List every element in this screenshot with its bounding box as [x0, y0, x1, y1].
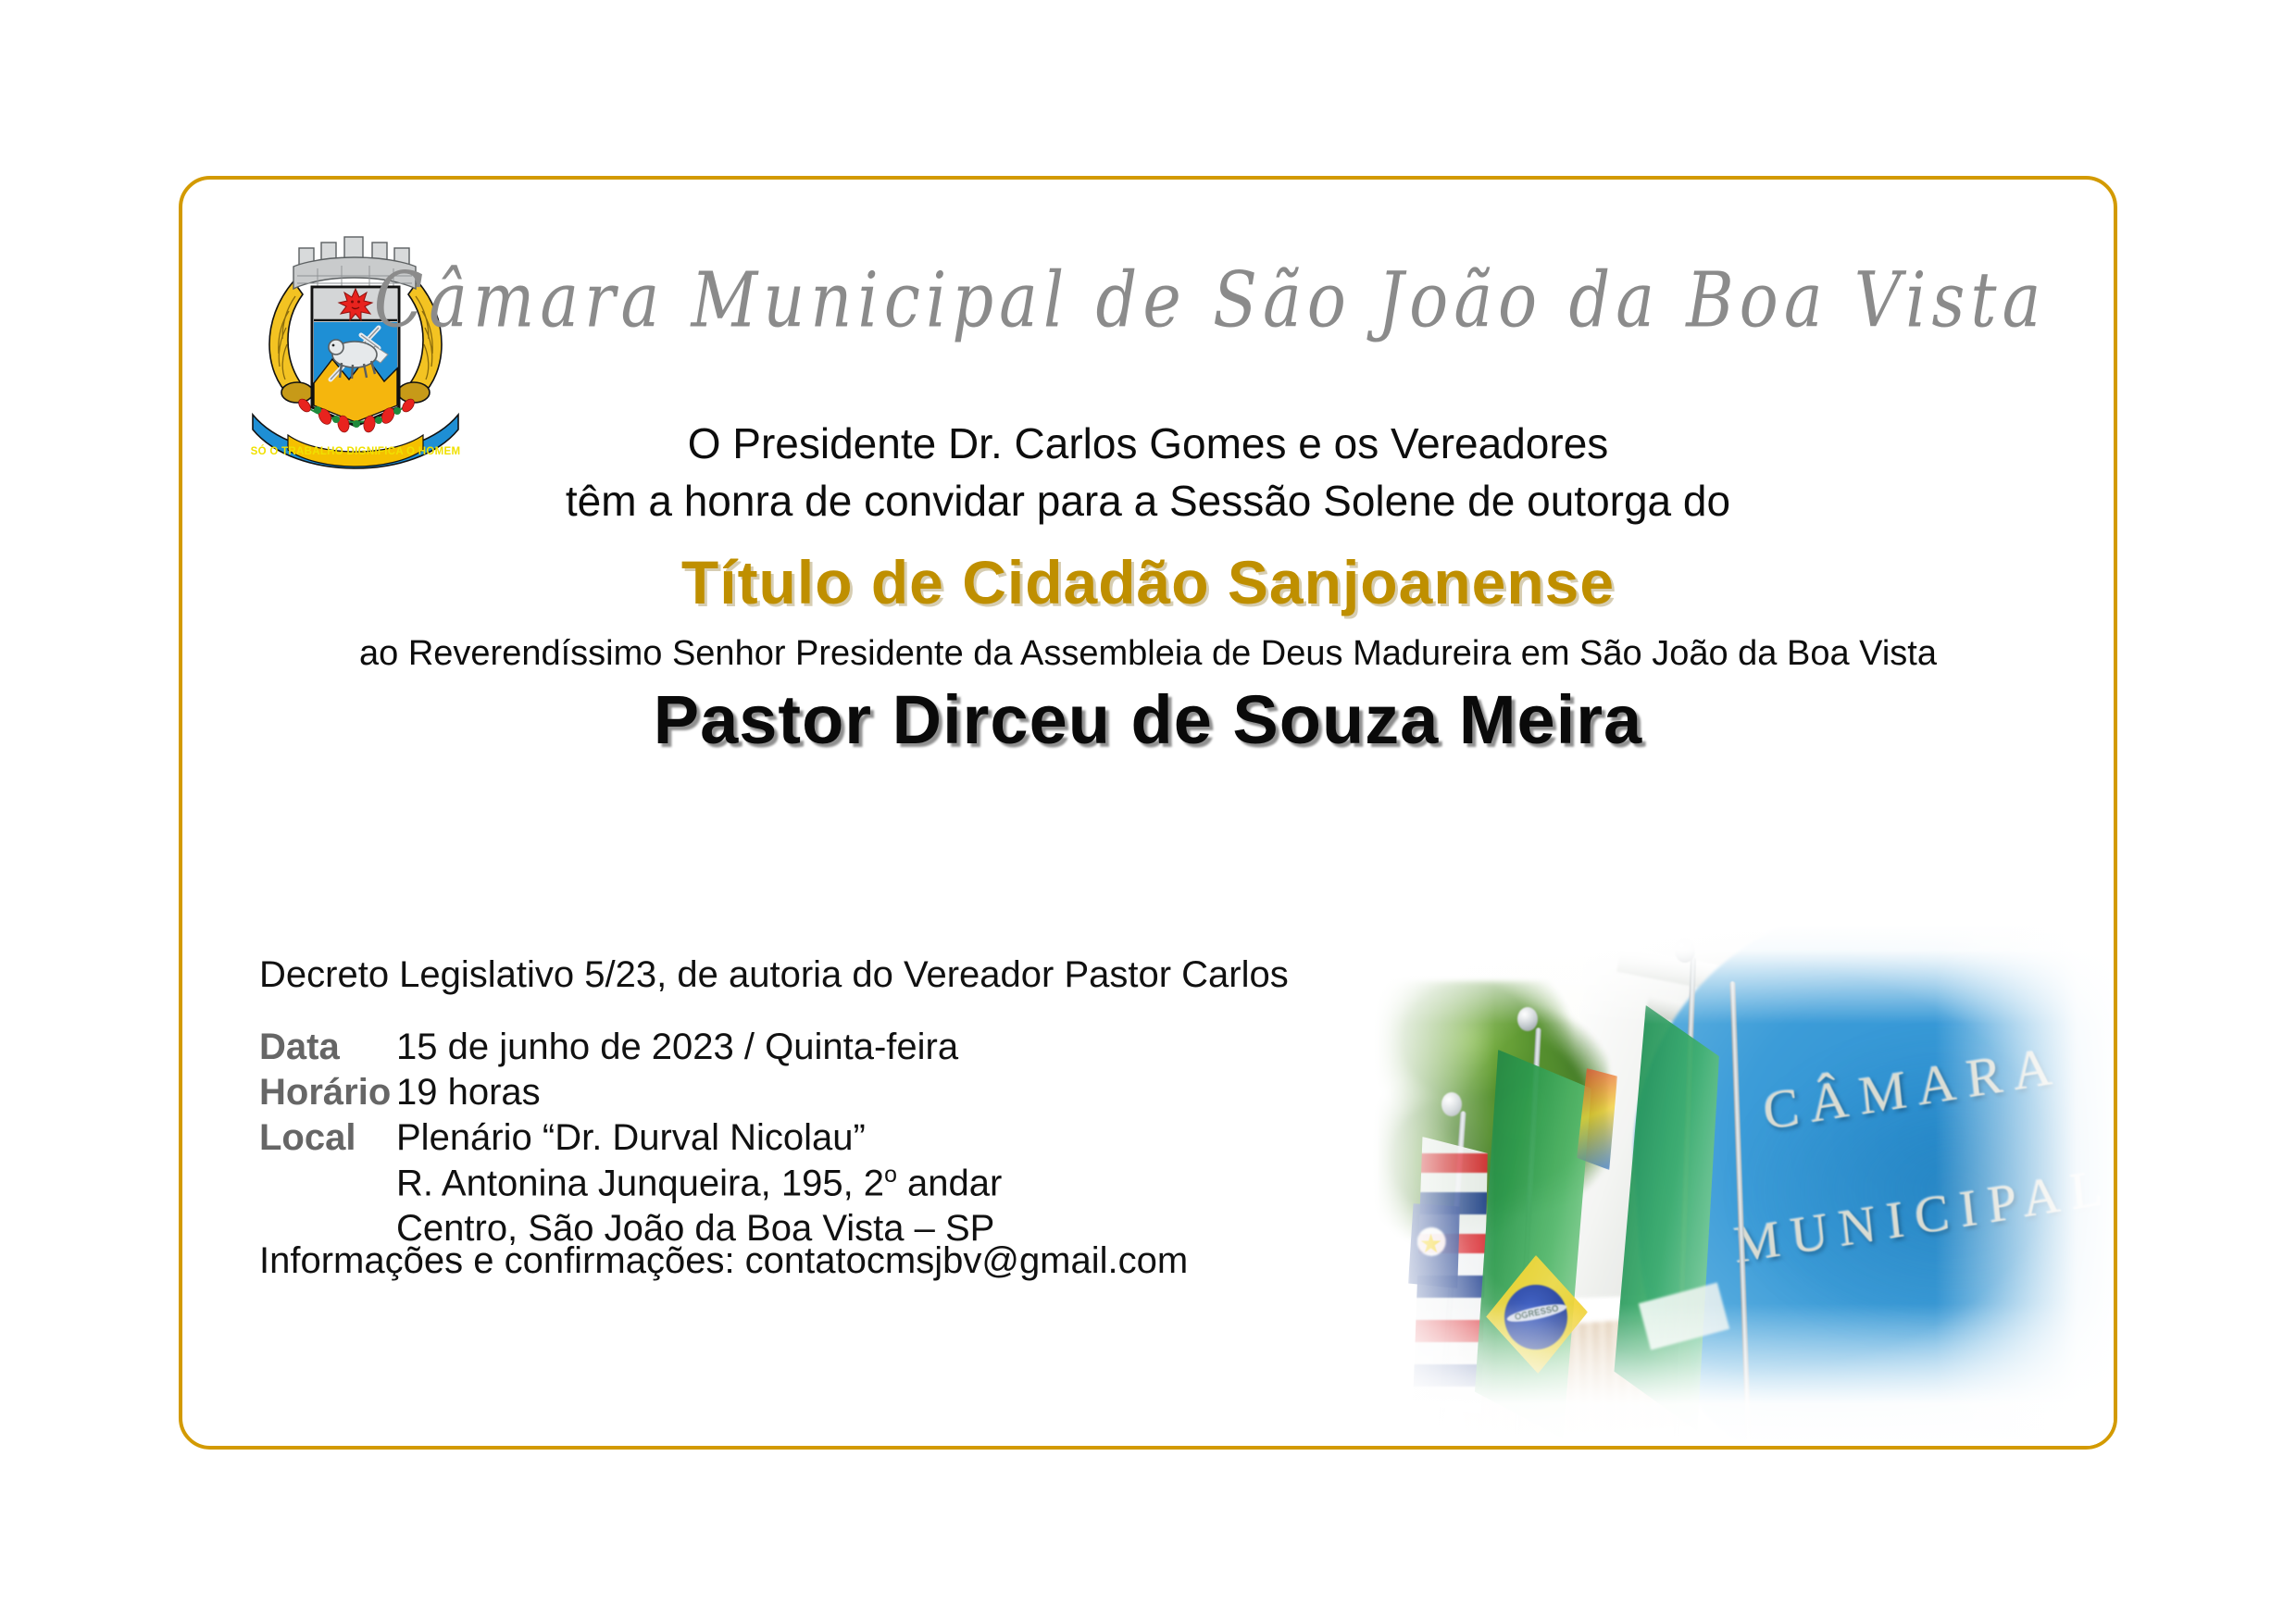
flagpole-knob-3 [1675, 939, 1695, 963]
bandeira-brasil [1462, 1050, 1591, 1438]
honoree-name: Pastor Dirceu de Souza Meira [182, 680, 2114, 759]
camara-municipal-building-photo: CÂMARA MUNICIPAL ★ OGRESSO [1340, 926, 2117, 1450]
flagpole-knob-2 [1517, 1007, 1538, 1031]
event-details-table: Data 15 de junho de 2023 / Quinta-feira … [259, 1027, 1002, 1253]
photo-feather-edges [1340, 926, 2117, 1450]
flagpole-3 [1674, 957, 1696, 1438]
bandeira-sao-paulo-star: ★ [1419, 1231, 1442, 1257]
photo-building-eave [1616, 946, 1794, 1005]
flagpole-1 [1437, 1111, 1466, 1444]
photo-scene: CÂMARA MUNICIPAL ★ OGRESSO [1340, 926, 2117, 1450]
bandeira-verde-branca [1597, 1005, 1719, 1431]
bandeira-sao-paulo-canton [1408, 1203, 1460, 1288]
flagpole-4 [1729, 981, 1751, 1444]
wall-letters-camara: CÂMARA [1761, 1034, 2066, 1143]
detail-label-empty-1 [259, 1163, 396, 1208]
photo-wall-shading [1738, 1037, 2117, 1342]
photo-building-facade [1555, 926, 1766, 1299]
bandeira-brasil-losango [1484, 1255, 1588, 1374]
photo-roof-tiles [1456, 1315, 1695, 1442]
detail-value-address: R. Antonina Junqueira, 195, 2o andar [396, 1163, 1002, 1208]
organization-title: Câmara Municipal de São João da Boa Vist… [340, 255, 2080, 345]
detail-row-data: Data 15 de junho de 2023 / Quinta-feira [259, 1027, 1002, 1072]
bandeira-brasil-faixa: OGRESSO [1505, 1301, 1567, 1325]
detail-row-address: R. Antonina Junqueira, 195, 2o andar [259, 1163, 1002, 1208]
bandeira-brasil-faixa-texto: OGRESSO [1505, 1301, 1567, 1325]
contact-line: Informações e confirmações: contatocmsjb… [259, 1240, 1188, 1282]
photo-sky [1460, 926, 1793, 1222]
detail-label-horario: Horário [259, 1072, 396, 1117]
wall-letters-municipal: MUNICIPAL [1731, 1157, 2116, 1276]
detail-row-horario: Horário 19 horas [259, 1072, 1002, 1117]
award-title: Título de Cidadão Sanjoanense [182, 547, 2114, 617]
detail-label-data: Data [259, 1027, 396, 1072]
photo-tree [1377, 981, 1608, 1250]
bandeira-verde-faixa-branca [1639, 1282, 1729, 1350]
address-floor: andar [897, 1163, 1002, 1203]
address-ordinal: o [884, 1163, 897, 1188]
photo-vignette-inner [1340, 926, 2117, 1450]
bandeira-lateral-colorida [1577, 1068, 1617, 1170]
decree-line: Decreto Legislativo 5/23, de autoria do … [259, 954, 1289, 996]
bandeira-sao-paulo [1408, 1137, 1488, 1414]
detail-row-local: Local Plenário “Dr. Durval Nicolau” [259, 1117, 1002, 1163]
detail-value-local: Plenário “Dr. Durval Nicolau” [396, 1117, 1002, 1163]
invitation-line-1: O Presidente Dr. Carlos Gomes e os Verea… [182, 418, 2114, 468]
bandeira-brasil-globo [1504, 1285, 1567, 1350]
invitation-line-2: têm a honra de convidar para a Sessão So… [182, 476, 2114, 526]
detail-label-local: Local [259, 1117, 396, 1163]
photo-blue-wall [1619, 926, 2117, 1450]
address-street: R. Antonina Junqueira, 195, 2 [396, 1163, 884, 1203]
honoree-description: ao Reverendíssimo Senhor Presidente da A… [182, 634, 2114, 674]
detail-value-data: 15 de junho de 2023 / Quinta-feira [396, 1027, 1002, 1072]
flagpole-knob-1 [1441, 1092, 1462, 1116]
photo-building-eave-2 [1644, 996, 1793, 1047]
flagpole-2 [1514, 1027, 1541, 1444]
invitation-card: CÂMARA MUNICIPAL ★ OGRESSO [179, 176, 2117, 1450]
detail-value-horario: 19 horas [396, 1072, 1002, 1117]
